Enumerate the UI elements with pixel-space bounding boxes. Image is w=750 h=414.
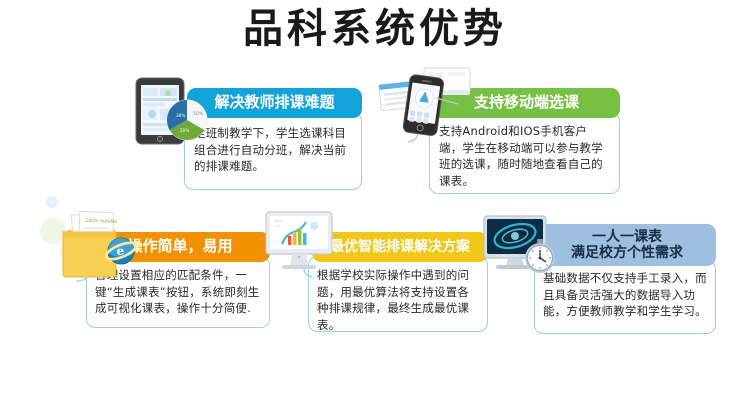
svg-text:30%: 30% — [176, 113, 185, 118]
feature-card-2: 支持Android和IOS手机客户端，学生在移动端可以参与教学班的选课，随时随地… — [388, 64, 620, 194]
page-title: 品科系统优势 — [0, 2, 750, 56]
feature-card-3: 合理设置相应的匹配条件，一键“生成课表”按钮，系统即刻生成可视化课表，操作十分简… — [58, 208, 270, 328]
feature-card-4: 根据学校实际操作中遇到的问题，用最优算法将支持设置各种排课规律，最终生成最优课表… — [262, 208, 488, 332]
card-heading-text-1: 解决教师排课难题 — [214, 94, 334, 111]
desktop-monitor-chart-icon — [262, 206, 352, 280]
tablet-pie-chart-icon: 50% 30% 20% — [132, 76, 222, 154]
folder-documents-browser-icon: 100% AutoBal e — [53, 204, 145, 282]
card-heading-text-2: 支持移动端选课 — [474, 94, 579, 111]
feature-card-1: 走班制教学下，学生选课科目组合进行自动分班，解决当前的排课难题。 解决教师排课难… — [132, 76, 362, 190]
svg-text:50%: 50% — [193, 111, 204, 117]
svg-text:100% AutoBal: 100% AutoBal — [85, 218, 118, 225]
svg-text:e: e — [117, 244, 125, 258]
card-heading-text-5-line1: 一人一课表 — [592, 229, 662, 245]
card-heading-text-5-line2: 满足校方个性需求 — [571, 245, 683, 261]
svg-text:20%: 20% — [180, 128, 189, 133]
feature-card-5: 基础数据不仅支持手工录入，而且具备灵活强大的数据导入功能，方便教师教学和学生学习… — [478, 208, 716, 334]
smartphone-laptop-icon — [378, 62, 483, 144]
monitor-stopwatch-icon — [478, 208, 573, 286]
slide-canvas: 品科系统优势 走班制教学下，学生选课科目组合进行自动分班，解决当前的排课难题。 … — [0, 0, 750, 414]
